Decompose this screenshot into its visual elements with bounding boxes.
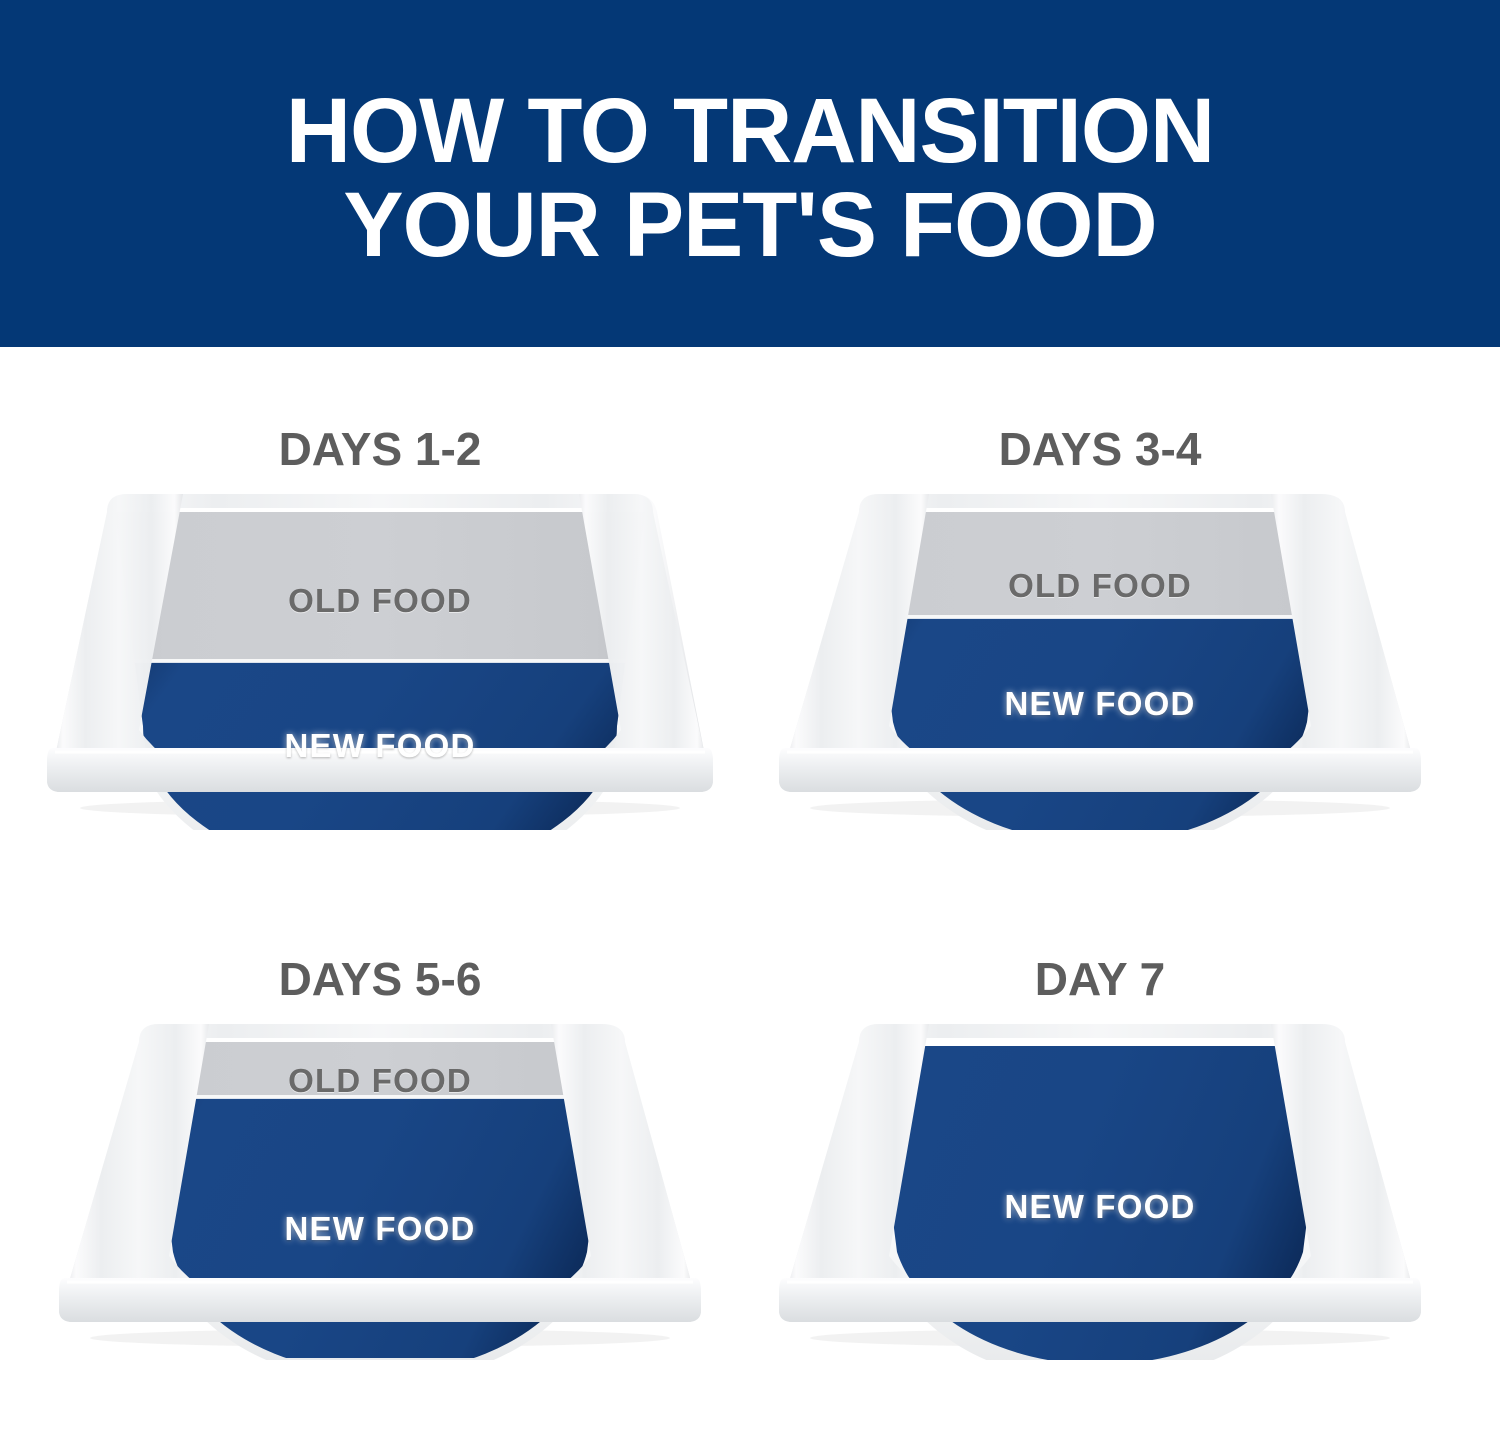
step-panel-days-1-2: DAYS 1-2 [35,422,725,922]
food-bowl-day-7: NEW FOOD [755,1020,1445,1360]
day-label-days-5-6: DAYS 5-6 [35,952,725,1006]
food-divider-line [845,615,1355,619]
step-panel-day-7: DAY 7 [755,952,1445,1452]
transition-steps-grid: DAYS 1-2 [0,347,1500,1401]
bowl-graphic-days-1-2 [35,490,725,830]
page-title: HOW TO TRANSITION YOUR PET'S FOOD [113,85,1387,273]
food-divider-line [125,1095,635,1099]
food-divider-line [95,659,665,663]
bowl-graphic-day-7 [755,1020,1445,1360]
new-food-fill [95,662,665,830]
new-food-fill [845,618,1355,830]
step-panel-days-3-4: DAYS 3-4 [755,422,1445,922]
bowl-graphic-days-5-6 [35,1020,725,1360]
bowl-graphic-days-3-4 [755,490,1445,830]
page-title-line-1: HOW TO TRANSITION [113,85,1387,179]
day-label-days-1-2: DAYS 1-2 [35,422,725,476]
bowl-base-front [779,748,1421,792]
bowl-base-front [59,1278,701,1322]
day-label-day-7: DAY 7 [755,952,1445,1006]
food-bowl-days-5-6: OLD FOOD NEW FOOD [35,1020,725,1360]
food-bowl-days-1-2: OLD FOOD NEW FOOD [35,490,725,830]
header-banner: HOW TO TRANSITION YOUR PET'S FOOD [0,0,1500,347]
bowl-base-front [779,1278,1421,1322]
bowl-base-front [47,748,713,792]
step-panel-days-5-6: DAYS 5-6 [35,952,725,1452]
day-label-days-3-4: DAYS 3-4 [755,422,1445,476]
food-bowl-days-3-4: OLD FOOD NEW FOOD [755,490,1445,830]
page-title-line-2: YOUR PET'S FOOD [113,179,1387,273]
